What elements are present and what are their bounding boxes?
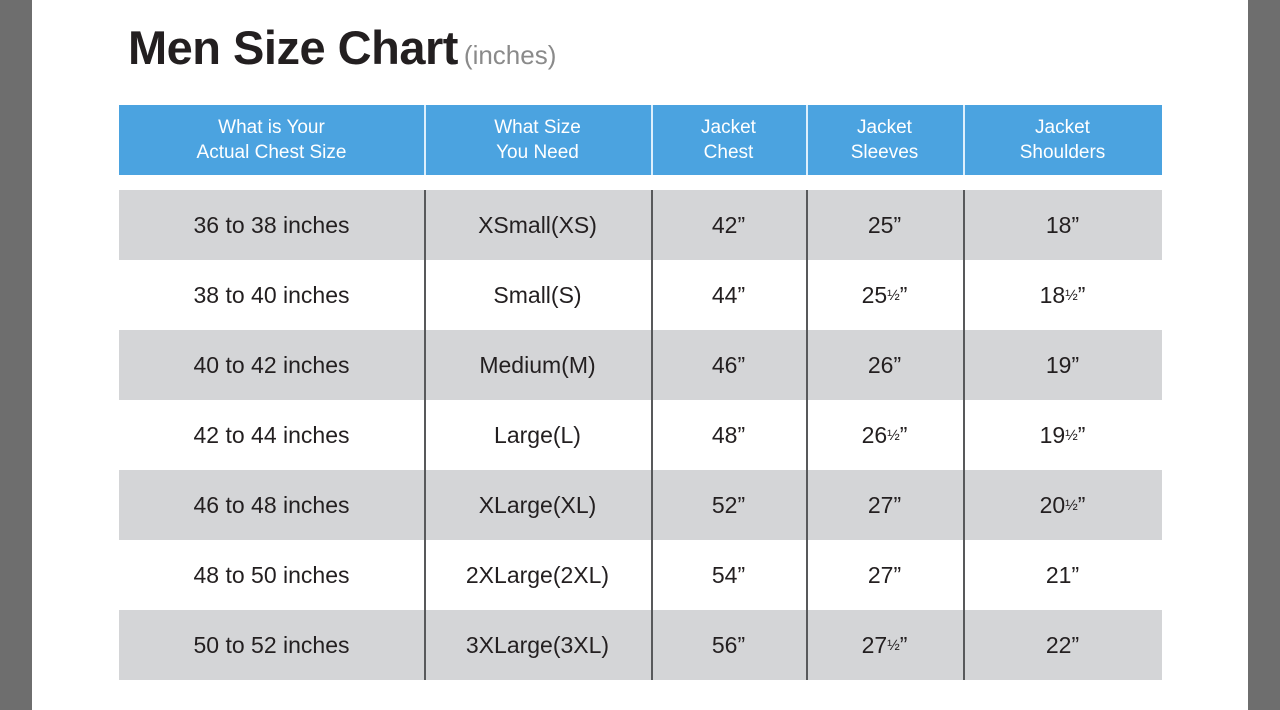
cell-size-needed: 3XLarge(3XL) [424,610,651,680]
column-header-line2: Actual Chest Size [197,140,347,165]
cell-chest-range: 50 to 52 inches [119,610,424,680]
cell-jacket-chest: 44” [651,260,806,330]
cell-size-needed: XSmall(XS) [424,190,651,260]
cell-jacket-sleeves: 25” [806,190,963,260]
table-row: 46 to 48 inches XLarge(XL) 52” 27” 20½” [119,470,1162,540]
title-main-text: Men Size Chart [128,21,458,74]
cell-chest-range: 36 to 38 inches [119,190,424,260]
cell-jacket-sleeves: 27½” [806,610,963,680]
table-row: 42 to 44 inches Large(L) 48” 26½” 19½” [119,400,1162,470]
column-header-line1: Jacket [851,115,919,140]
cell-chest-range: 48 to 50 inches [119,540,424,610]
cell-jacket-sleeves: 27” [806,470,963,540]
cell-jacket-shoulders: 18” [963,190,1162,260]
column-header-line2: You Need [494,140,581,165]
column-header-line1: What is Your [197,115,347,140]
column-header-line2: Chest [701,140,756,165]
column-header-jacket-chest: Jacket Chest [651,105,806,175]
right-letterbox-bar [1248,0,1280,710]
cell-jacket-chest: 48” [651,400,806,470]
table-row: 50 to 52 inches 3XLarge(3XL) 56” 27½” 22… [119,610,1162,680]
size-chart-table: What is Your Actual Chest Size What Size… [119,105,1162,680]
cell-jacket-chest: 52” [651,470,806,540]
left-letterbox-bar [0,0,32,710]
slide-viewer: Men Size Chart(inches) What is Your Actu… [0,0,1280,710]
cell-size-needed: XLarge(XL) [424,470,651,540]
table-row: 48 to 50 inches 2XLarge(2XL) 54” 27” 21” [119,540,1162,610]
cell-jacket-sleeves: 26” [806,330,963,400]
slide-canvas: Men Size Chart(inches) What is Your Actu… [32,0,1248,710]
table-row: 40 to 42 inches Medium(M) 46” 26” 19” [119,330,1162,400]
cell-jacket-shoulders: 19½” [963,400,1162,470]
title-unit-text: (inches) [464,40,556,70]
column-header-jacket-shoulders: Jacket Shoulders [963,105,1162,175]
cell-jacket-sleeves: 27” [806,540,963,610]
cell-size-needed: Medium(M) [424,330,651,400]
cell-jacket-shoulders: 20½” [963,470,1162,540]
cell-chest-range: 38 to 40 inches [119,260,424,330]
cell-jacket-sleeves: 26½” [806,400,963,470]
column-header-line1: Jacket [1020,115,1106,140]
column-header-line1: What Size [494,115,581,140]
cell-jacket-shoulders: 22” [963,610,1162,680]
cell-size-needed: Large(L) [424,400,651,470]
cell-jacket-shoulders: 18½” [963,260,1162,330]
cell-chest-range: 40 to 42 inches [119,330,424,400]
table-body: 36 to 38 inches XSmall(XS) 42” 25” 18” 3… [119,190,1162,680]
column-header-line1: Jacket [701,115,756,140]
column-header-line2: Shoulders [1020,140,1106,165]
cell-size-needed: Small(S) [424,260,651,330]
column-header-chest-range: What is Your Actual Chest Size [119,105,424,175]
cell-jacket-shoulders: 19” [963,330,1162,400]
cell-chest-range: 42 to 44 inches [119,400,424,470]
column-header-size-needed: What Size You Need [424,105,651,175]
cell-jacket-chest: 46” [651,330,806,400]
table-row: 38 to 40 inches Small(S) 44” 25½” 18½” [119,260,1162,330]
table-row: 36 to 38 inches XSmall(XS) 42” 25” 18” [119,190,1162,260]
cell-jacket-shoulders: 21” [963,540,1162,610]
cell-jacket-chest: 56” [651,610,806,680]
cell-jacket-chest: 54” [651,540,806,610]
column-header-line2: Sleeves [851,140,919,165]
column-header-jacket-sleeves: Jacket Sleeves [806,105,963,175]
page-title: Men Size Chart(inches) [128,20,556,75]
cell-chest-range: 46 to 48 inches [119,470,424,540]
cell-size-needed: 2XLarge(2XL) [424,540,651,610]
cell-jacket-sleeves: 25½” [806,260,963,330]
cell-jacket-chest: 42” [651,190,806,260]
table-header-row: What is Your Actual Chest Size What Size… [119,105,1162,175]
